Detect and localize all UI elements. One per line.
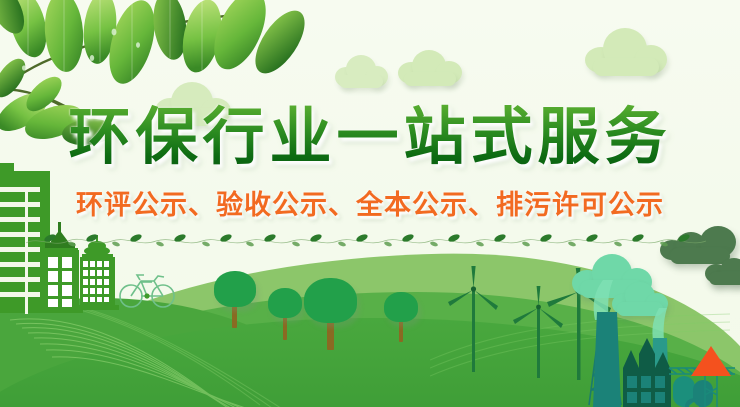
eco-service-banner: 环保行业一站式服务 环保行业一站式服务 环评公示、验收公示、全本公示、排污许可公… bbox=[0, 0, 740, 407]
page-subtitle: 环评公示、验收公示、全本公示、排污许可公示 环评公示、验收公示、全本公示、排污许… bbox=[0, 183, 740, 222]
page-title-text: 环保行业一站式服务 bbox=[0, 86, 740, 176]
page-subtitle-text: 环评公示、验收公示、全本公示、排污许可公示 bbox=[0, 183, 740, 222]
page-title: 环保行业一站式服务 环保行业一站式服务 bbox=[0, 86, 740, 176]
vine-border-icon bbox=[26, 234, 716, 248]
